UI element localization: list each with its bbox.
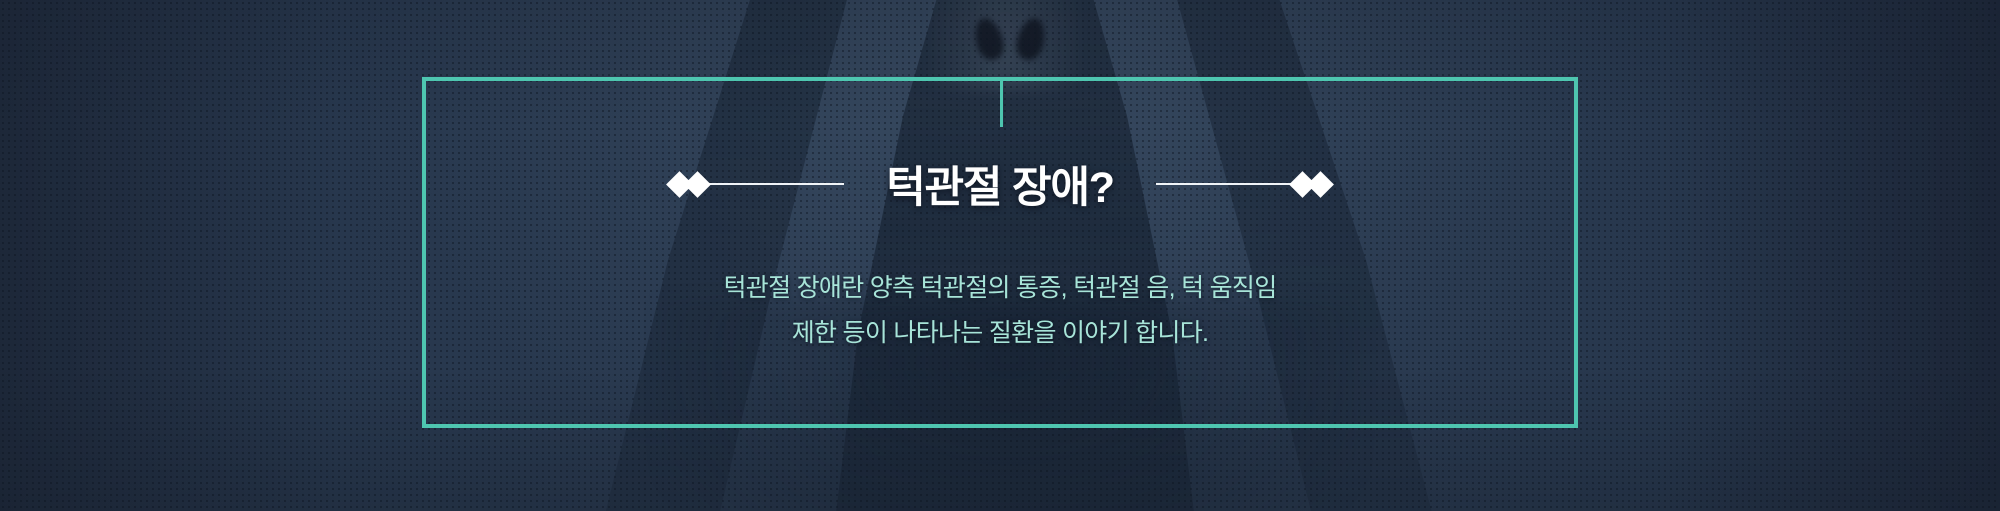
content-frame-border [422, 77, 1578, 428]
banner-description: 턱관절 장애란 양측 턱관절의 통증, 턱관절 음, 턱 움직임 제한 등이 나… [422, 266, 1578, 356]
diamond-icon [1307, 171, 1334, 198]
page-title: 턱관절 장애? [886, 153, 1114, 215]
title-row: 턱관절 장애? [422, 158, 1578, 210]
description-line-1: 턱관절 장애란 양측 턱관절의 통증, 턱관절 음, 턱 움직임 [422, 266, 1578, 311]
frame-drop-tick [1000, 77, 1003, 127]
title-decoration-left [670, 175, 844, 194]
description-line-2: 제한 등이 나타나는 질환을 이야기 합니다. [422, 311, 1578, 356]
title-decoration-right [1156, 175, 1330, 194]
rule-line-icon [1156, 183, 1292, 185]
rule-line-icon [708, 183, 844, 185]
hero-banner: 턱관절 장애? 턱관절 장애란 양측 턱관절의 통증, 턱관절 음, 턱 움직임… [0, 0, 2000, 511]
diamond-icon [684, 171, 711, 198]
